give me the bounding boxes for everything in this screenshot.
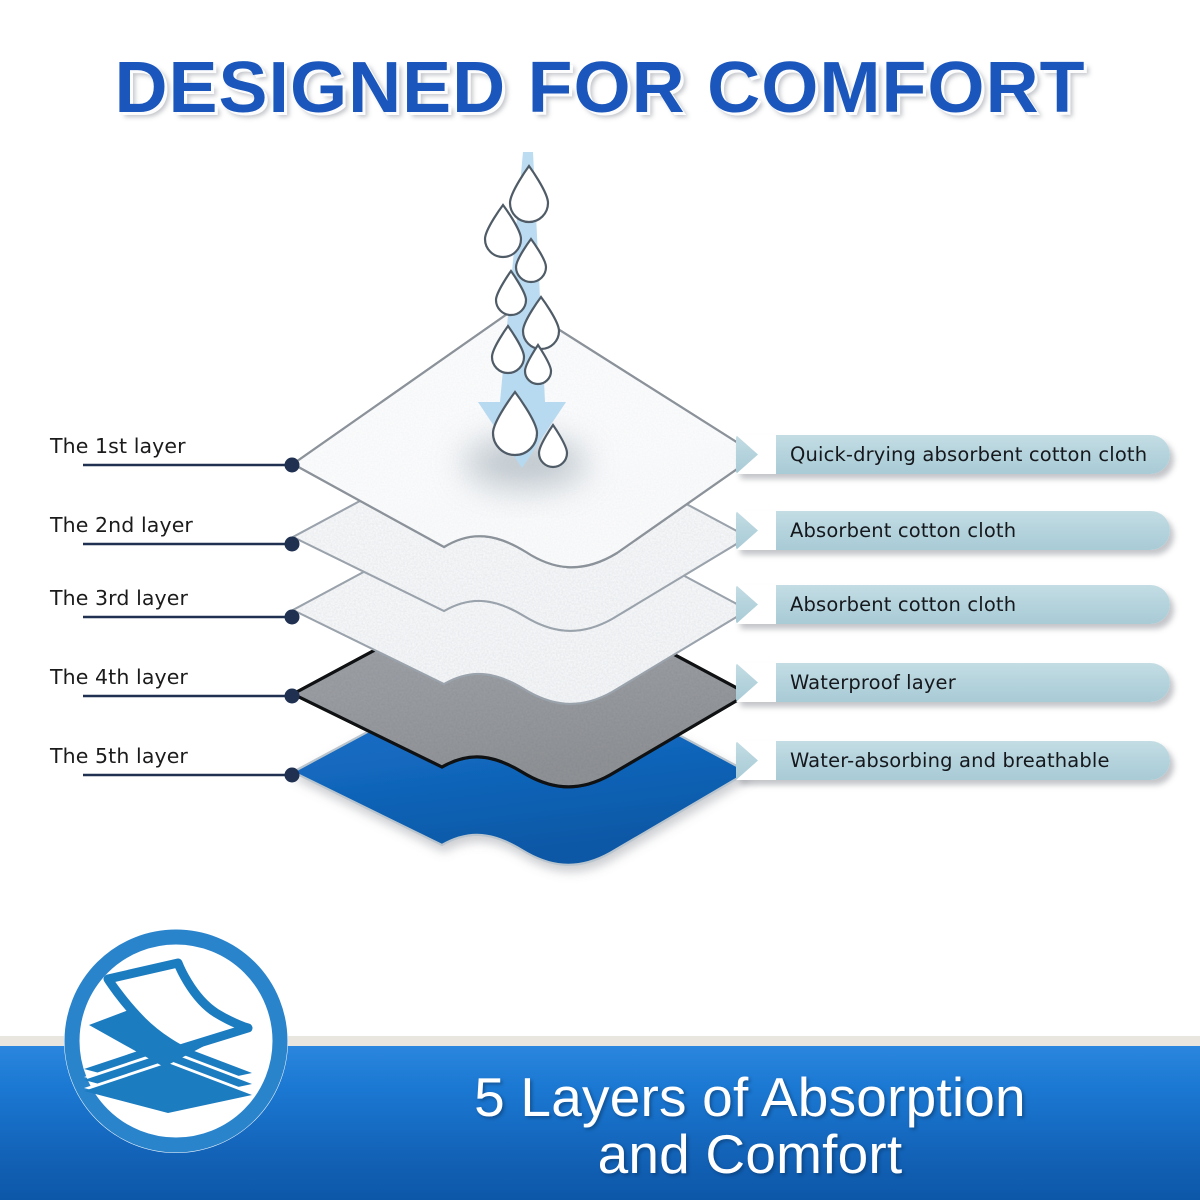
layer-1-shape <box>293 305 757 567</box>
water-droplets-icon <box>485 166 567 467</box>
banner-line-1: 5 Layers of Absorption <box>474 1069 1026 1126</box>
pill-layer-1: Quick-drying absorbent cotton cloth <box>736 435 1170 474</box>
wet-spot <box>463 438 587 488</box>
pill-layer-1-text: Quick-drying absorbent cotton cloth <box>736 443 1147 466</box>
left-label-layer-1: The 1st layer <box>38 414 318 470</box>
stacked-layers-badge <box>56 921 296 1161</box>
left-label-layer-2: The 2nd layer <box>38 493 318 549</box>
layer-5-shape <box>293 650 748 865</box>
left-label-layer-5-text: The 5th layer <box>50 744 188 768</box>
infographic-canvas: DESIGNED FOR COMFORT <box>0 0 1200 1200</box>
left-label-layer-4: The 4th layer <box>38 645 318 701</box>
pill-layer-3-text: Absorbent cotton cloth <box>736 593 1016 616</box>
banner-text-block: 5 Layers of Absorption and Comfort <box>300 1052 1200 1200</box>
pill-notch-4 <box>736 663 776 702</box>
water-arrow-icon <box>478 152 566 468</box>
pill-notch-5 <box>736 741 776 780</box>
page-title-container: DESIGNED FOR COMFORT <box>0 52 1200 124</box>
pill-layer-5: Water-absorbing and breathable <box>736 741 1170 780</box>
pill-layer-2: Absorbent cotton cloth <box>736 511 1170 550</box>
left-label-layer-3: The 3rd layer <box>38 566 318 622</box>
layer-3-shape <box>293 488 748 704</box>
left-label-layer-4-text: The 4th layer <box>50 665 188 689</box>
layer-2-shape <box>293 415 748 631</box>
banner-line-2: and Comfort <box>598 1126 903 1183</box>
page-title: DESIGNED FOR COMFORT <box>114 52 1085 124</box>
pill-layer-5-text: Water-absorbing and breathable <box>736 749 1110 772</box>
left-label-layer-1-text: The 1st layer <box>50 434 186 458</box>
pill-layer-3: Absorbent cotton cloth <box>736 585 1170 624</box>
layer-4-shape <box>293 572 748 787</box>
pill-notch-1 <box>736 435 776 474</box>
pill-layer-2-text: Absorbent cotton cloth <box>736 519 1016 542</box>
left-label-layer-3-text: The 3rd layer <box>50 586 188 610</box>
left-label-layer-5: The 5th layer <box>38 724 318 780</box>
pill-notch-2 <box>736 511 776 550</box>
pill-layer-4: Waterproof layer <box>736 663 1170 702</box>
pill-notch-3 <box>736 585 776 624</box>
left-label-layer-2-text: The 2nd layer <box>50 513 193 537</box>
